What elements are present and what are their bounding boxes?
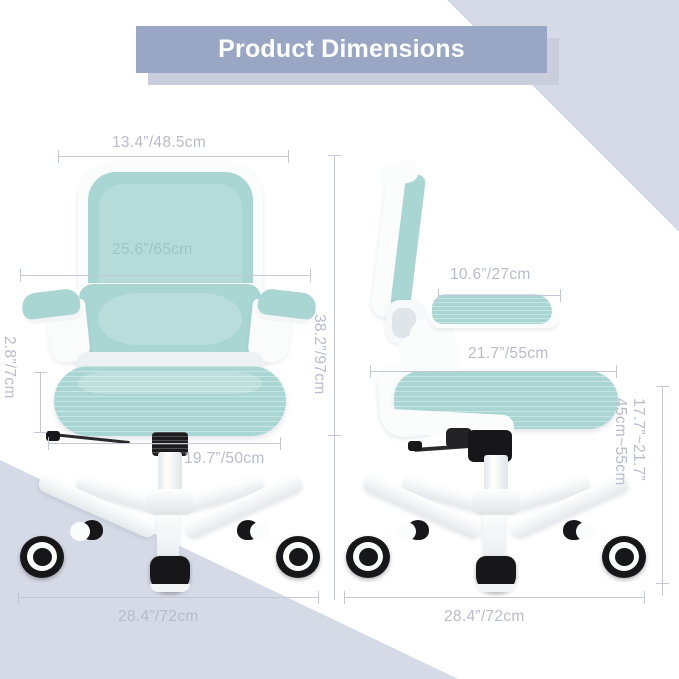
label-seat-width: 19.7”/50cm [184, 450, 265, 468]
front-caster-left-hub [33, 548, 52, 566]
tick-armrest-depth-right [560, 289, 561, 302]
front-lumbar-highlight [98, 293, 242, 345]
rule-backrest-width [58, 156, 288, 157]
side-armrest-pad-ribbing [432, 294, 552, 324]
label-seat-height-inches: 17.7”~21.7” [629, 398, 646, 481]
side-caster-left-hub [359, 548, 378, 566]
tick-overall-height-top [328, 155, 341, 156]
tick-seat-height-top [656, 386, 669, 387]
front-caster-center-base [150, 584, 190, 592]
tick-backrest-width-left [58, 150, 59, 163]
front-caster-rear-right-hub [250, 522, 270, 541]
tick-overall-width-left [20, 269, 21, 282]
rule-front-base-width [18, 597, 318, 598]
tick-seat-width-left [48, 437, 49, 450]
tick-front-base-width-right [318, 591, 319, 604]
rule-seat-depth [370, 371, 616, 372]
tick-backrest-width-right [288, 150, 289, 163]
front-caster-rear-left-hub [70, 522, 90, 541]
side-caster-center-base [476, 584, 516, 592]
side-base-hub [472, 489, 520, 515]
side-caster-right-hub [615, 548, 634, 566]
tick-seat-width-right [280, 437, 281, 450]
rule-overall-height [334, 155, 335, 600]
rule-seat-thickness [40, 372, 41, 432]
side-caster-rear-left-hub [396, 522, 416, 541]
label-seat-height-cm: 45cm~55cm [611, 398, 628, 486]
rule-overall-width [20, 275, 310, 276]
tick-seat-height-bottom [656, 583, 669, 584]
front-caster-right-hub [289, 548, 308, 566]
tick-front-base-width-left [18, 591, 19, 604]
tick-side-base-width-right [644, 591, 645, 604]
label-seat-thickness: 2.8”/7cm [0, 336, 18, 399]
label-backrest-width: 13.4”/48.5cm [112, 134, 206, 152]
rule-seat-height-range [662, 386, 663, 596]
tick-seat-thickness-top [34, 372, 47, 373]
product-dimensions-diagram: Product Dimensions [0, 0, 679, 679]
label-side-base-width: 28.4”/72cm [444, 608, 525, 626]
tick-side-base-width-left [344, 591, 345, 604]
label-overall-height: 38.2”/97cm [310, 314, 328, 395]
tick-overall-width-right [310, 269, 311, 282]
label-backrest-height: 25.6”/65cm [112, 241, 193, 259]
page-title: Product Dimensions [218, 35, 465, 64]
label-front-base-width: 28.4”/72cm [118, 608, 199, 626]
side-lever-knob [408, 441, 422, 451]
tick-armrest-depth-left [438, 289, 439, 302]
side-caster-rear-right-hub [576, 522, 596, 541]
rule-side-base-width [344, 597, 644, 598]
label-seat-depth: 21.7”/55cm [468, 345, 549, 363]
front-seat-highlight [78, 372, 262, 394]
rule-seat-width [48, 443, 280, 444]
tick-seat-thickness-bottom [34, 432, 47, 433]
rule-armrest-depth [438, 295, 560, 296]
label-armrest-depth: 10.6”/27cm [450, 266, 531, 284]
tick-seat-depth-right [616, 365, 617, 378]
tick-seat-depth-left [370, 365, 371, 378]
tick-overall-height-mid [328, 435, 341, 436]
title-banner: Product Dimensions [136, 26, 547, 73]
front-base-hub [146, 489, 194, 515]
